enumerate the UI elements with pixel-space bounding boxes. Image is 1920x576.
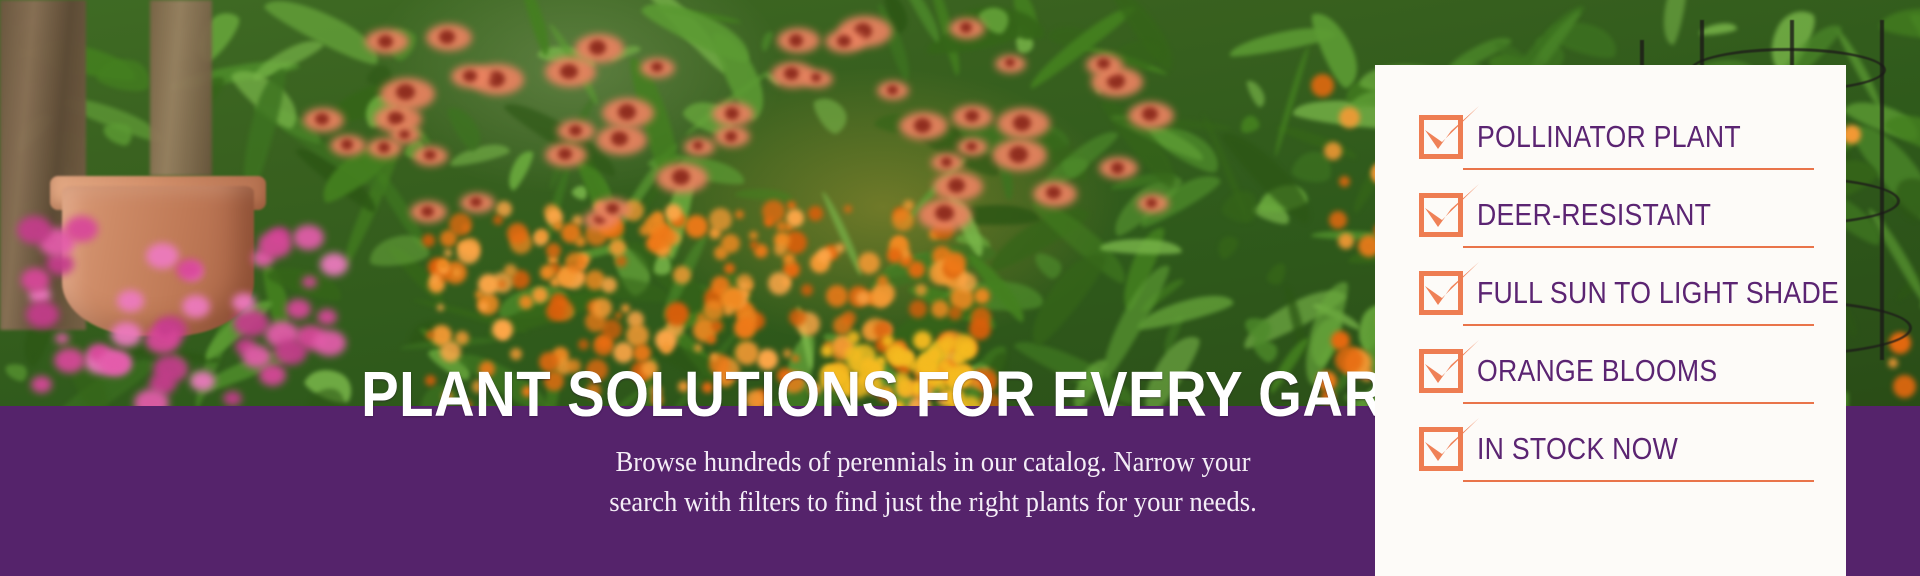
checklist-item-in-stock-now[interactable]: IN STOCK NOW: [1419, 411, 1812, 486]
checkbox-outline: [1419, 349, 1463, 393]
checklist-item-deer-resistant[interactable]: DEER-RESISTANT: [1419, 177, 1812, 252]
checked-checkbox-icon[interactable]: [1419, 349, 1463, 393]
checklist-item-label: FULL SUN TO LIGHT SHADE: [1477, 277, 1839, 309]
checked-checkbox-icon[interactable]: [1419, 115, 1463, 159]
checklist-item-label: ORANGE BLOOMS: [1477, 355, 1717, 387]
checklist-item-underline: [1463, 324, 1814, 326]
checkbox-outline: [1419, 193, 1463, 237]
wooden-post-secondary-icon: [150, 0, 212, 176]
checklist-item-label: POLLINATOR PLANT: [1477, 121, 1741, 153]
checkbox-outline: [1419, 427, 1463, 471]
checklist-item-pollinator-plant[interactable]: POLLINATOR PLANT: [1419, 99, 1812, 174]
checkbox-outline: [1419, 115, 1463, 159]
checkbox-outline: [1419, 271, 1463, 315]
checklist-item-label: IN STOCK NOW: [1477, 433, 1678, 465]
checklist-item-underline: [1463, 480, 1814, 482]
checked-checkbox-icon[interactable]: [1419, 193, 1463, 237]
checked-checkbox-icon[interactable]: [1419, 271, 1463, 315]
hero-banner: PLANT SOLUTIONS FOR EVERY GARDEN Browse …: [0, 0, 1920, 576]
filter-checklist: POLLINATOR PLANTDEER-RESISTANTFULL SUN T…: [1419, 99, 1812, 486]
checklist-item-label: DEER-RESISTANT: [1477, 199, 1711, 231]
checklist-item-orange-blooms[interactable]: ORANGE BLOOMS: [1419, 333, 1812, 408]
checklist-item-underline: [1463, 402, 1814, 404]
checked-checkbox-icon[interactable]: [1419, 427, 1463, 471]
checklist-item-full-sun-to-light-shade[interactable]: FULL SUN TO LIGHT SHADE: [1419, 255, 1812, 330]
filter-checklist-card: POLLINATOR PLANTDEER-RESISTANTFULL SUN T…: [1375, 65, 1846, 576]
checklist-item-underline: [1463, 168, 1814, 170]
checklist-item-underline: [1463, 246, 1814, 248]
